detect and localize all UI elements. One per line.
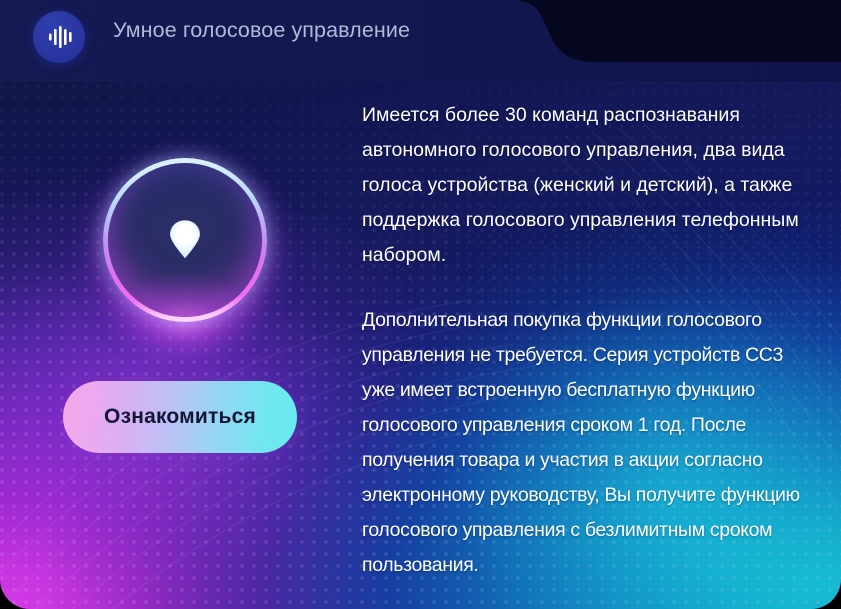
voice-assistant-orb	[103, 158, 267, 322]
voice-control-promo-card: Умное голосовое управление Ознакомиться …	[0, 0, 841, 609]
description-text-block: Имеется более 30 команд распознавания ав…	[362, 98, 814, 583]
voice-wave-icon	[33, 11, 85, 63]
paragraph-features: Имеется более 30 команд распознавания ав…	[362, 98, 814, 273]
voice-wave-badge	[33, 11, 85, 63]
page-title: Умное голосовое управление	[113, 18, 410, 43]
learn-more-button[interactable]: Ознакомиться	[63, 381, 297, 453]
paragraph-offer: Дополнительная покупка функции голосовог…	[362, 303, 814, 583]
